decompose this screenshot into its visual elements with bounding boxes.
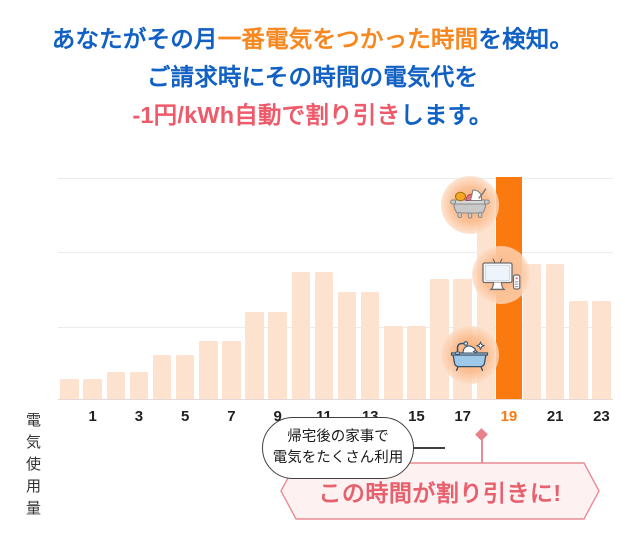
bar-hour-21 (546, 264, 565, 399)
headline-line-3: -1円/kWh自動で割り引きします。 (0, 96, 625, 134)
promo-infographic: あなたがその月一番電気をつかった時間を検知。 ご請求時にその時間の電気代を -1… (0, 0, 625, 535)
bar-series (58, 178, 613, 400)
headline-line-2: ご請求時にその時間の電気代を (0, 58, 625, 96)
bar-hour-13 (361, 292, 380, 399)
callout-connector (413, 447, 445, 449)
bar-hour-22 (569, 301, 588, 399)
x-tick-23: 23 (593, 408, 610, 425)
headline-line-1-highlight: 一番電気をつかった時間 (218, 26, 479, 52)
bar-hour-6 (199, 341, 218, 399)
y-axis-label-char: 使 (22, 454, 46, 476)
bar-hour-11 (315, 272, 334, 399)
bar-hour-0 (60, 379, 79, 399)
x-tick-3: 3 (135, 408, 143, 425)
headline-line-1-part-1: あなたがその月 (52, 26, 218, 52)
bar-hour-10 (292, 272, 311, 399)
x-tick-21: 21 (547, 408, 564, 425)
x-tick-1: 1 (89, 408, 97, 425)
bar-hour-8 (245, 312, 264, 399)
plot-area (58, 178, 613, 400)
x-tick-15: 15 (408, 408, 425, 425)
bar-hour-3 (130, 372, 149, 399)
y-axis-label: 電 気 使 用 量 (22, 410, 46, 520)
bar-hour-5 (176, 355, 195, 399)
bar-hour-7 (222, 341, 241, 399)
bar-hour-15 (407, 326, 426, 399)
bar-hour-4 (153, 355, 172, 399)
cooking-pot-icon (441, 176, 499, 234)
bathtub-icon (441, 326, 499, 384)
usage-bar-chart: 電 気 使 用 量 1357911131517192123 (0, 170, 625, 435)
bar-hour-9 (268, 312, 287, 399)
x-tick-7: 7 (227, 408, 235, 425)
bar-hour-2 (107, 372, 126, 399)
y-axis-label-char: 気 (22, 432, 46, 454)
x-tick-17: 17 (454, 408, 471, 425)
headline-line-1: あなたがその月一番電気をつかった時間を検知。 (0, 20, 625, 58)
x-tick-5: 5 (181, 408, 189, 425)
callout-line-1: 帰宅後の家事で (287, 427, 389, 448)
x-tick-19: 19 (501, 408, 518, 425)
y-axis-label-char: 用 (22, 476, 46, 498)
y-axis-label-char: 量 (22, 498, 46, 520)
headline-block: あなたがその月一番電気をつかった時間を検知。 ご請求時にその時間の電気代を -1… (0, 20, 625, 134)
headline-line-3-discount: -1円/kWh自動で割り引き (132, 102, 400, 128)
television-icon (472, 246, 530, 304)
headline-line-3-part-2: します。 (400, 102, 492, 128)
callout-line-2: 電気をたくさん利用 (273, 448, 404, 469)
bar-hour-12 (338, 292, 357, 399)
bar-hour-23 (592, 301, 611, 399)
headline-line-1-part-3: を検知。 (478, 26, 573, 52)
bar-hour-1 (83, 379, 102, 399)
y-axis-label-char: 電 (22, 410, 46, 432)
bar-hour-14 (384, 326, 403, 399)
callout-bubble: 帰宅後の家事で 電気をたくさん利用 (262, 417, 414, 479)
